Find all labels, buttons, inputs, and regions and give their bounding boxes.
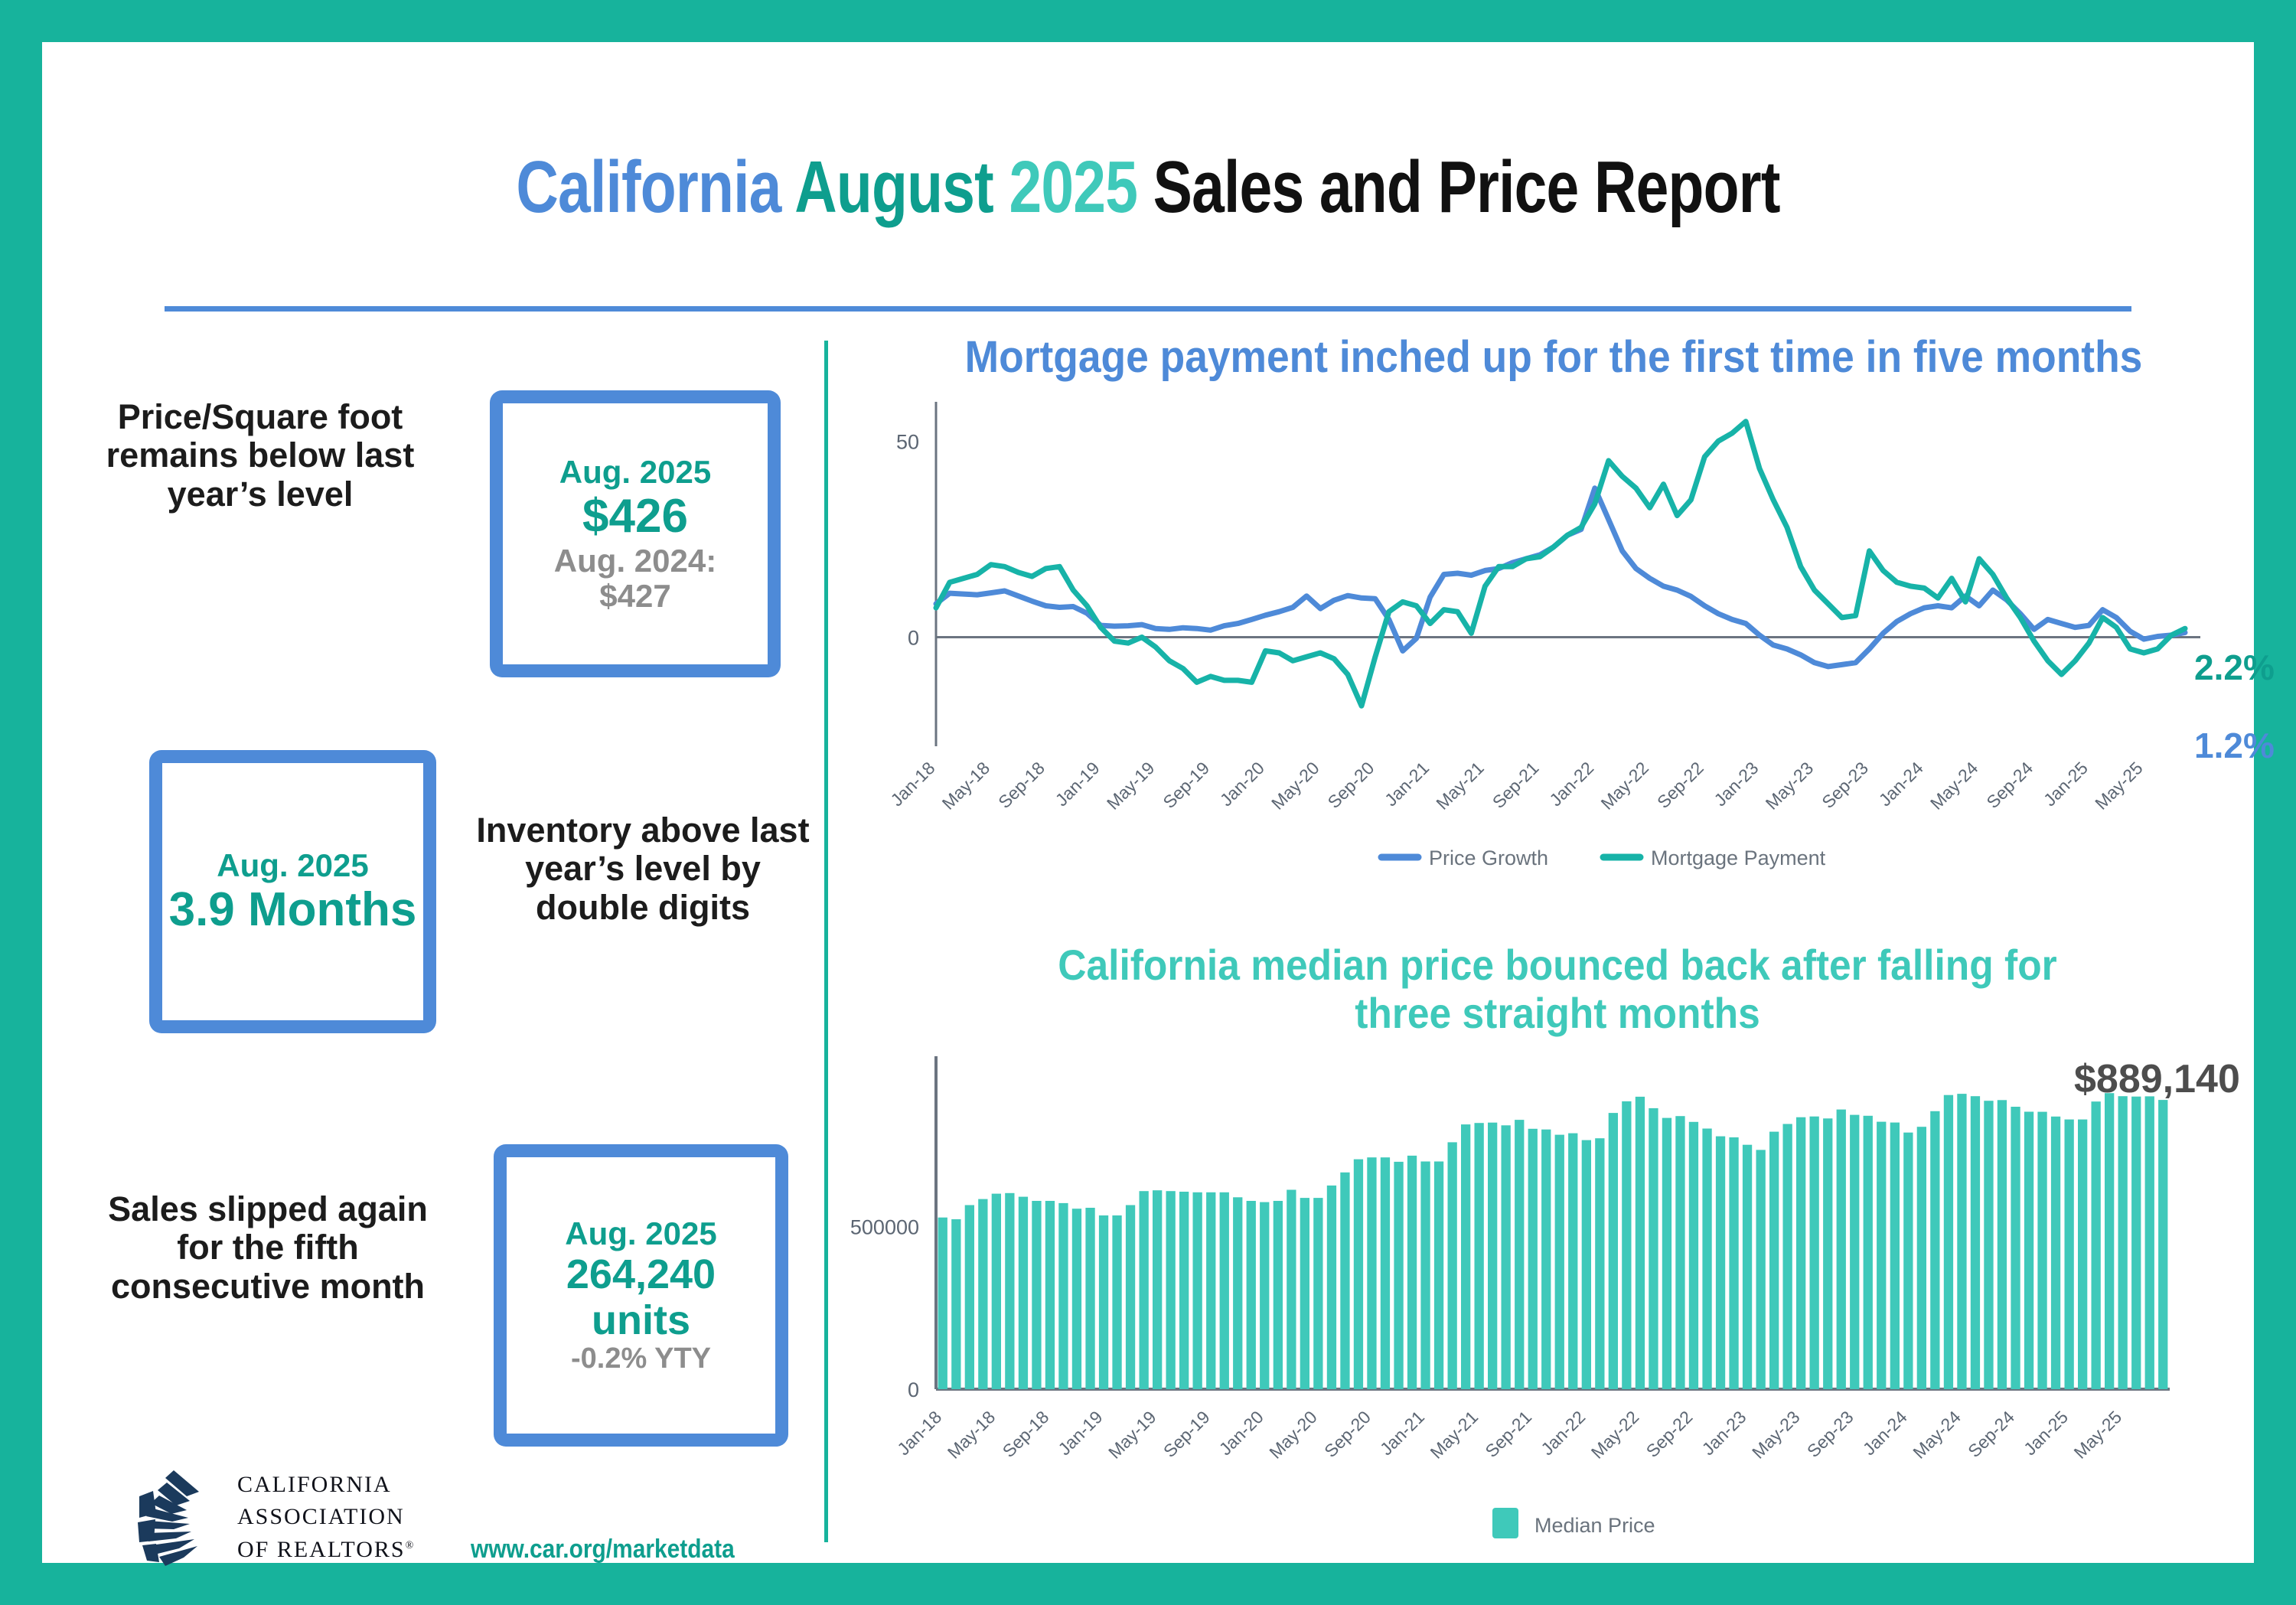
- car-logo-text: CALIFORNIA ASSOCIATION OF REALTORS®: [237, 1469, 415, 1567]
- bar: [1287, 1190, 1296, 1390]
- svg-text:Sep-19: Sep-19: [1159, 1407, 1214, 1461]
- svg-text:500000: 500000: [850, 1216, 919, 1239]
- logo-line-2: ASSOCIATION: [237, 1501, 415, 1534]
- bar: [2145, 1096, 2154, 1389]
- svg-text:May-21: May-21: [1432, 758, 1488, 814]
- bar: [2065, 1120, 2074, 1389]
- svg-text:Price Growth: Price Growth: [1429, 847, 1548, 869]
- bar: [1582, 1140, 1591, 1389]
- stat-box-3-value: 264,240: [566, 1252, 716, 1297]
- bar: [1274, 1201, 1283, 1389]
- bar: [1609, 1113, 1618, 1389]
- bar: [1381, 1157, 1390, 1389]
- bar: [1716, 1137, 1725, 1389]
- bar: [1260, 1202, 1269, 1389]
- stat-box-1-period: Aug. 2025: [559, 454, 711, 491]
- logo-line-1: CALIFORNIA: [237, 1469, 415, 1502]
- svg-text:May-25: May-25: [2091, 758, 2147, 814]
- bar: [1206, 1192, 1215, 1389]
- bar: [1420, 1162, 1430, 1390]
- bar: [1515, 1120, 1524, 1389]
- bar: [1903, 1133, 1913, 1389]
- svg-text:Jan-25: Jan-25: [2040, 758, 2092, 810]
- svg-text:Sep-21: Sep-21: [1481, 1407, 1535, 1461]
- bar: [1541, 1130, 1551, 1389]
- bar: [978, 1199, 987, 1389]
- bar: [1072, 1209, 1081, 1389]
- bar: [1783, 1124, 1792, 1390]
- stat-box-1-value: $426: [582, 491, 688, 543]
- svg-text:Sep-23: Sep-23: [1818, 758, 1872, 812]
- logo-registered-mark: ®: [406, 1540, 416, 1551]
- stat-caption-price-per-sqft: Price/Square foot remains below last yea…: [96, 398, 425, 514]
- bar: [1313, 1198, 1322, 1389]
- svg-text:Sep-18: Sep-18: [994, 758, 1049, 812]
- svg-text:May-18: May-18: [944, 1407, 1000, 1463]
- svg-text:Jan-22: Jan-22: [1545, 758, 1597, 810]
- stat-box-sales[interactable]: Aug. 2025 264,240 units -0.2% YTY: [494, 1144, 788, 1447]
- bar: [1930, 1111, 1939, 1389]
- svg-text:May-23: May-23: [1748, 1407, 1804, 1463]
- bar: [1233, 1197, 1242, 1389]
- bar: [1944, 1095, 1953, 1389]
- bar: [1166, 1191, 1176, 1389]
- svg-text:Jan-22: Jan-22: [1537, 1407, 1589, 1459]
- bar: [2105, 1093, 2114, 1389]
- bar: [1448, 1142, 1457, 1389]
- bar: [938, 1218, 947, 1389]
- svg-text:Jan-19: Jan-19: [1052, 758, 1104, 810]
- bar: [1461, 1124, 1470, 1389]
- svg-text:Jan-24: Jan-24: [1859, 1407, 1911, 1459]
- bar: [1300, 1198, 1309, 1389]
- bar: [1971, 1096, 1980, 1389]
- bar: [1636, 1097, 1645, 1389]
- bar: [1998, 1100, 2007, 1389]
- median-price-callout: $889,140: [2074, 1056, 2240, 1102]
- bar: [951, 1219, 960, 1389]
- bar: [1823, 1118, 1832, 1389]
- bar: [1354, 1160, 1363, 1389]
- bar: [1877, 1122, 1886, 1389]
- bar: [1367, 1157, 1376, 1389]
- bar: [1810, 1117, 1819, 1389]
- svg-text:May-21: May-21: [1427, 1407, 1482, 1463]
- svg-text:May-22: May-22: [1596, 758, 1652, 814]
- bar: [1568, 1134, 1577, 1389]
- bar: [1864, 1116, 1873, 1389]
- svg-text:May-20: May-20: [1267, 758, 1323, 814]
- bar: [1099, 1215, 1108, 1389]
- end-label-price-growth: 1.2%: [2194, 725, 2275, 766]
- bar: [1058, 1203, 1068, 1389]
- bar: [1220, 1192, 1229, 1389]
- end-label-mortgage-payment: 2.2%: [2194, 647, 2275, 688]
- bar: [1917, 1127, 1926, 1389]
- svg-text:Sep-23: Sep-23: [1803, 1407, 1857, 1461]
- bar: [1662, 1118, 1671, 1389]
- svg-text:Median Price: Median Price: [1534, 1514, 1655, 1537]
- bar: [1729, 1137, 1738, 1389]
- stat-box-2-value: 3.9 Months: [169, 884, 417, 936]
- bar: [2092, 1101, 2101, 1389]
- svg-text:Sep-24: Sep-24: [1964, 1407, 2018, 1461]
- report-card: California August 2025 Sales and Price R…: [42, 42, 2254, 1563]
- bar: [965, 1205, 974, 1390]
- bar: [1327, 1186, 1336, 1389]
- svg-text:Jan-25: Jan-25: [2020, 1407, 2072, 1459]
- svg-text:Jan-20: Jan-20: [1215, 1407, 1267, 1459]
- svg-text:May-23: May-23: [1762, 758, 1818, 814]
- stat-box-inventory[interactable]: Aug. 2025 3.9 Months: [149, 750, 436, 1033]
- bar: [1032, 1201, 1041, 1389]
- bar: [1045, 1201, 1055, 1389]
- logo-line-3: OF REALTORS: [237, 1537, 406, 1562]
- bar: [1394, 1162, 1403, 1389]
- car-logo: CALIFORNIA ASSOCIATION OF REALTORS®: [130, 1466, 415, 1569]
- bar: [2011, 1107, 2020, 1389]
- svg-text:Jan-18: Jan-18: [886, 758, 938, 810]
- bar: [1019, 1197, 1028, 1389]
- svg-text:Jan-23: Jan-23: [1710, 758, 1762, 810]
- bar: [1984, 1101, 1993, 1389]
- bar: [2051, 1117, 2060, 1389]
- bar: [1837, 1110, 1846, 1389]
- market-data-url[interactable]: www.car.org/marketdata: [471, 1535, 735, 1564]
- bar: [1555, 1135, 1564, 1389]
- bar: [1743, 1145, 1752, 1389]
- right-charts-column: Mortgage payment inched up for the first…: [830, 42, 2254, 1563]
- svg-text:Sep-24: Sep-24: [1982, 758, 2037, 812]
- svg-text:Sep-19: Sep-19: [1159, 758, 1213, 812]
- bar: [2118, 1096, 2128, 1389]
- car-fan-logo-icon: [130, 1466, 220, 1569]
- bar: [1689, 1122, 1698, 1389]
- bar: [1085, 1208, 1094, 1389]
- svg-text:Sep-21: Sep-21: [1489, 758, 1543, 812]
- svg-text:0: 0: [908, 627, 919, 650]
- bar: [1769, 1132, 1779, 1389]
- bar: [2131, 1097, 2141, 1389]
- bar: [1005, 1193, 1014, 1389]
- bar: [1957, 1094, 1966, 1389]
- bar: [2024, 1112, 2033, 1390]
- svg-text:0: 0: [908, 1378, 919, 1401]
- bar: [1126, 1205, 1135, 1390]
- chart-1-title: Mortgage payment inched up for the first…: [909, 333, 2198, 383]
- bar: [1407, 1156, 1417, 1389]
- bar: [1796, 1117, 1805, 1389]
- svg-text:May-19: May-19: [1104, 1407, 1160, 1463]
- stat-box-3-period: Aug. 2025: [565, 1215, 716, 1252]
- bar: [1502, 1125, 1511, 1389]
- svg-text:Jan-18: Jan-18: [893, 1407, 945, 1459]
- svg-text:Jan-21: Jan-21: [1376, 1407, 1428, 1459]
- svg-text:May-20: May-20: [1265, 1407, 1321, 1463]
- bar: [1890, 1123, 1900, 1389]
- bar: [992, 1194, 1001, 1389]
- left-stats-column: Price/Square foot remains below last yea…: [42, 42, 815, 1563]
- bar: [2078, 1120, 2087, 1389]
- chart-2-title: California median price bounced back aft…: [1029, 941, 2086, 1037]
- stat-box-3-sub-label: -0.2% YTY: [571, 1343, 711, 1375]
- bar: [1675, 1116, 1684, 1389]
- svg-text:Jan-23: Jan-23: [1698, 1407, 1750, 1459]
- column-divider: [824, 341, 828, 1542]
- svg-text:May-24: May-24: [1926, 758, 1982, 814]
- svg-text:May-25: May-25: [2070, 1407, 2126, 1463]
- svg-text:Sep-22: Sep-22: [1642, 1407, 1697, 1461]
- svg-text:Jan-20: Jan-20: [1216, 758, 1268, 810]
- svg-text:May-19: May-19: [1103, 758, 1159, 814]
- bar: [1595, 1138, 1604, 1389]
- stat-box-2-period: Aug. 2025: [217, 847, 368, 884]
- bar: [1702, 1129, 1711, 1390]
- bar: [1488, 1123, 1497, 1389]
- svg-text:Sep-22: Sep-22: [1653, 758, 1707, 812]
- bar: [2037, 1112, 2047, 1389]
- svg-text:Sep-20: Sep-20: [1320, 1407, 1375, 1461]
- bar: [2158, 1100, 2167, 1389]
- bar: [1340, 1173, 1349, 1389]
- bar: [1153, 1190, 1162, 1389]
- svg-text:Mortgage Payment: Mortgage Payment: [1651, 847, 1826, 869]
- stat-box-3-value-unit: units: [592, 1298, 690, 1343]
- svg-text:Sep-18: Sep-18: [999, 1407, 1053, 1461]
- svg-text:50: 50: [896, 430, 919, 453]
- svg-text:Sep-20: Sep-20: [1324, 758, 1378, 812]
- bar: [1193, 1192, 1202, 1389]
- bar: [1649, 1108, 1658, 1389]
- bar: [1434, 1162, 1443, 1390]
- bar: [1756, 1150, 1766, 1389]
- bar: [1850, 1115, 1859, 1389]
- svg-text:May-18: May-18: [938, 758, 994, 814]
- mortgage-payment-line-chart: 050Jan-18May-18Sep-18Jan-19May-19Sep-19J…: [846, 387, 2254, 922]
- median-price-bar-chart: 0500000Jan-18May-18Sep-18Jan-19May-19Sep…: [846, 1052, 2254, 1558]
- svg-text:May-22: May-22: [1587, 1407, 1643, 1463]
- svg-text:Jan-21: Jan-21: [1381, 758, 1433, 810]
- stat-caption-inventory: Inventory above last year’s level by dou…: [471, 811, 815, 927]
- bar: [1247, 1201, 1256, 1389]
- stat-box-1-sub-label: Aug. 2024:: [554, 543, 716, 579]
- svg-text:Jan-19: Jan-19: [1054, 1407, 1106, 1459]
- bar: [1112, 1215, 1121, 1389]
- bar: [1622, 1101, 1631, 1389]
- svg-text:May-24: May-24: [1909, 1407, 1965, 1463]
- svg-text:Jan-24: Jan-24: [1875, 758, 1927, 810]
- stat-box-price-per-sqft[interactable]: Aug. 2025 $426 Aug. 2024: $427: [490, 390, 781, 677]
- stat-box-1-sub-value: $427: [599, 579, 670, 614]
- bar: [1528, 1129, 1538, 1389]
- stat-caption-sales: Sales slipped again for the fifth consec…: [88, 1190, 448, 1306]
- bar: [1140, 1191, 1149, 1389]
- bar: [1179, 1192, 1189, 1389]
- bar: [1475, 1123, 1484, 1389]
